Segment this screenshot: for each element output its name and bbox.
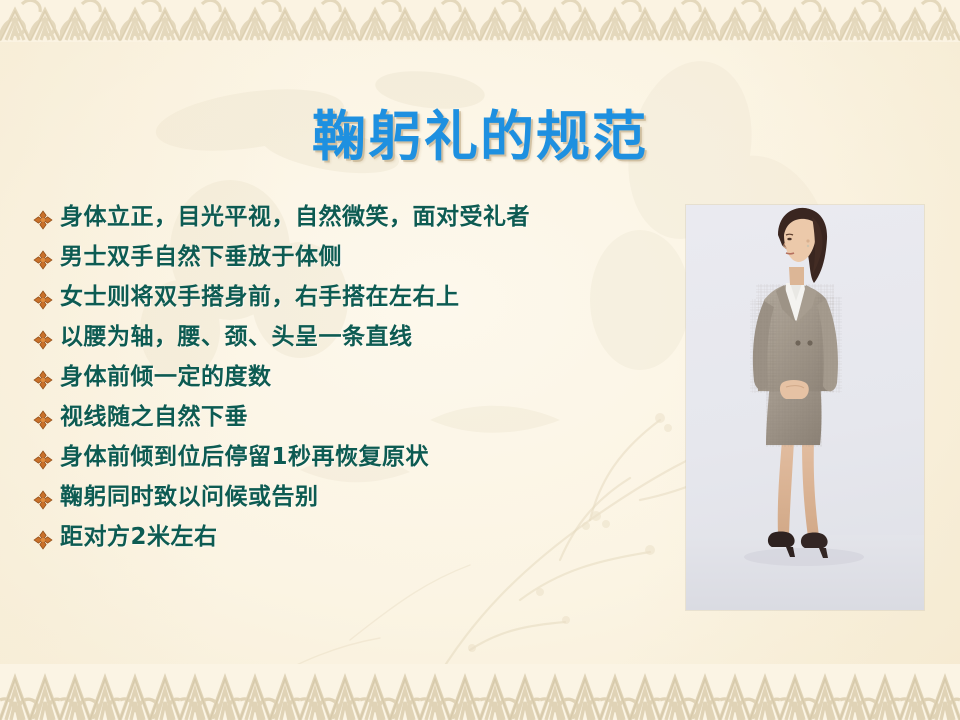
- woman-in-business-suit-photo: [686, 205, 924, 610]
- diamond-cluster-bullet-icon: [32, 329, 60, 361]
- list-item: 距对方2米左右: [32, 520, 692, 560]
- list-item-label: 鞠躬同时致以问候或告别: [60, 480, 319, 514]
- list-item: 身体前倾到位后停留1秒再恢复原状: [32, 440, 692, 480]
- list-item: 以腰为轴，腰、颈、头呈一条直线: [32, 320, 692, 360]
- diamond-cluster-bullet-icon: [32, 409, 60, 441]
- list-item: 女士则将双手搭身前，右手搭在左右上: [32, 280, 692, 320]
- list-item: 鞠躬同时致以问候或告别: [32, 480, 692, 520]
- slide-title: 鞠躬礼的规范: [0, 92, 960, 171]
- list-item-label: 身体前倾到位后停留1秒再恢复原状: [60, 440, 429, 474]
- bullet-list: 身体立正，目光平视，自然微笑，面对受礼者 男士双手自然下垂放于体侧: [32, 200, 692, 560]
- list-item: 视线随之自然下垂: [32, 400, 692, 440]
- diamond-cluster-bullet-icon: [32, 209, 60, 241]
- list-item-label: 女士则将双手搭身前，右手搭在左右上: [60, 280, 460, 314]
- slide-canvas: 鞠躬礼的规范 身体立正，目光平视，自然微笑，面对受礼者: [0, 0, 960, 720]
- list-item-label: 以腰为轴，腰、颈、头呈一条直线: [60, 320, 413, 354]
- diamond-cluster-bullet-icon: [32, 249, 60, 281]
- list-item: 男士双手自然下垂放于体侧: [32, 240, 692, 280]
- list-item-label: 视线随之自然下垂: [60, 400, 248, 434]
- list-item-label: 男士双手自然下垂放于体侧: [60, 240, 342, 274]
- list-item: 身体立正，目光平视，自然微笑，面对受礼者: [32, 200, 692, 240]
- diamond-cluster-bullet-icon: [32, 529, 60, 561]
- list-item-label: 身体立正，目光平视，自然微笑，面对受礼者: [60, 200, 530, 234]
- list-item: 身体前倾一定的度数: [32, 360, 692, 400]
- diamond-cluster-bullet-icon: [32, 489, 60, 521]
- list-item-label: 距对方2米左右: [60, 520, 218, 554]
- diamond-cluster-bullet-icon: [32, 369, 60, 401]
- diamond-cluster-bullet-icon: [32, 289, 60, 321]
- list-item-label: 身体前倾一定的度数: [60, 360, 272, 394]
- diamond-cluster-bullet-icon: [32, 449, 60, 481]
- woman-figure-illustration: [686, 205, 924, 610]
